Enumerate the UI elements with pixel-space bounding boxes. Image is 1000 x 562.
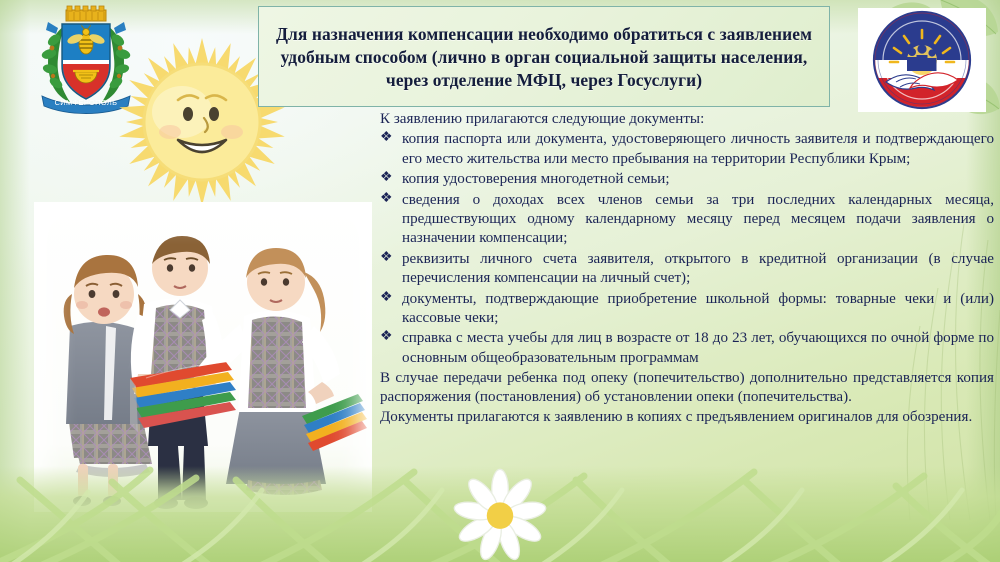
list-item: ❖ документы, подтверждающие приобретение… — [380, 290, 994, 329]
title-text: Для назначения компенсации необходимо об… — [259, 21, 829, 92]
list-item-text: сведения о доходах всех членов семьи за … — [402, 192, 994, 247]
list-item-text: справка с места учебы для лиц в возрасте… — [402, 330, 994, 365]
department-emblem — [858, 8, 986, 112]
fleuron-bullet-icon: ❖ — [380, 328, 393, 346]
list-item: ❖ справка с места учебы для лиц в возрас… — [380, 329, 994, 368]
list-item-text: реквизиты личного счета заявителя, откры… — [402, 251, 994, 286]
list-item: ❖ сведения о доходах всех членов семьи з… — [380, 191, 994, 249]
fleuron-bullet-icon: ❖ — [380, 190, 393, 208]
fleuron-bullet-icon: ❖ — [380, 289, 393, 307]
required-documents-list: ❖ копия паспорта или документа, удостове… — [380, 130, 994, 368]
document-requirements-body: К заявлению прилагаются следующие докуме… — [380, 110, 994, 427]
list-item-text: копия паспорта или документа, удостоверя… — [402, 131, 994, 166]
copies-paragraph: Документы прилагаются к заявлению в копи… — [380, 408, 994, 427]
fleuron-bullet-icon: ❖ — [380, 249, 393, 267]
fleuron-bullet-icon: ❖ — [380, 129, 393, 147]
lead-text: К заявлению прилагаются следующие докуме… — [380, 110, 994, 129]
slide-canvas: СИМФЕРОПОЛЬ — [0, 0, 1000, 562]
list-item: ❖ копия паспорта или документа, удостове… — [380, 130, 994, 169]
list-item: ❖ реквизиты личного счета заявителя, отк… — [380, 250, 994, 289]
fleuron-bullet-icon: ❖ — [380, 169, 393, 187]
list-item-text: документы, подтверждающие приобретение ш… — [402, 291, 994, 326]
title-banner: Для назначения компенсации необходимо об… — [258, 6, 830, 107]
daisy-flower-icon — [0, 466, 1000, 562]
list-item-text: копия удостоверения многодетной семьи; — [402, 171, 670, 187]
guardianship-paragraph: В случае передачи ребенка под опеку (поп… — [380, 369, 994, 408]
grass-decoration — [0, 466, 1000, 562]
list-item: ❖ копия удостоверения многодетной семьи; — [380, 170, 994, 189]
department-emblem-icon — [858, 8, 986, 112]
